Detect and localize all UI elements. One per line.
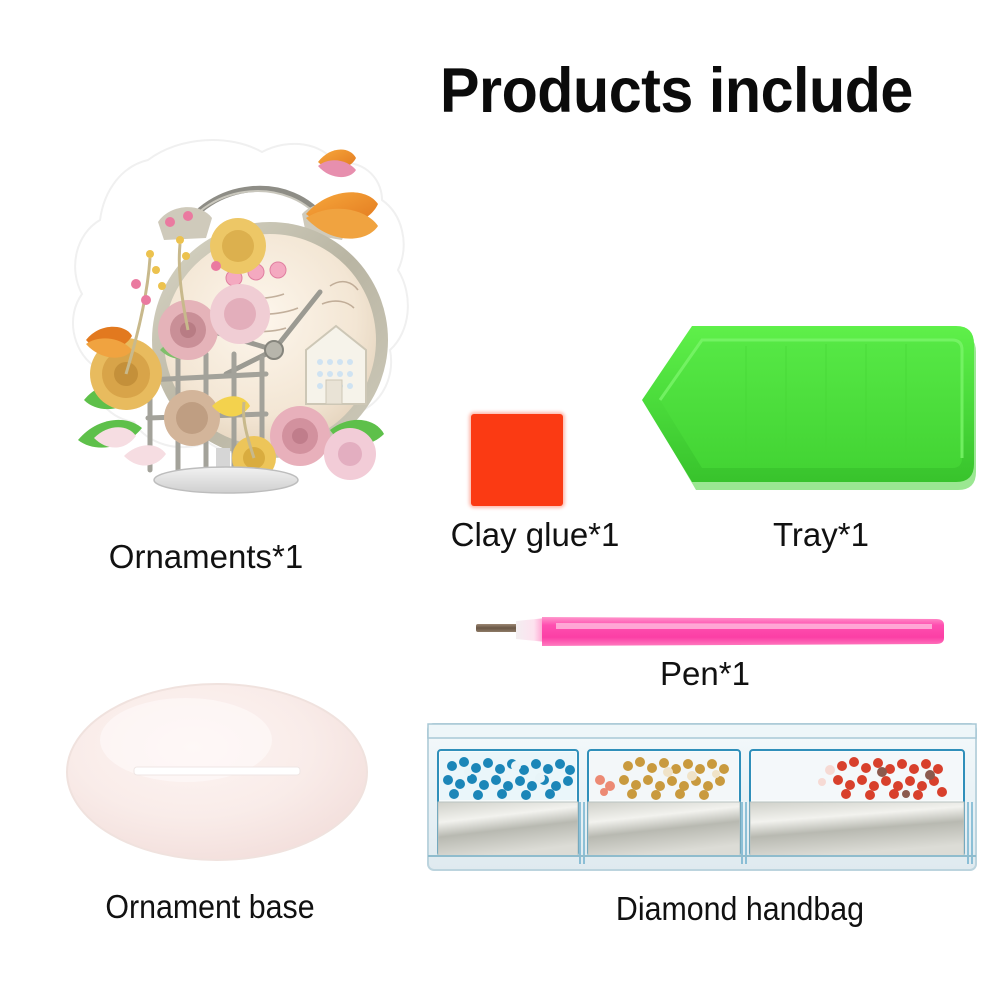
ornament-base-label: Ornament base xyxy=(90,888,329,926)
clay-glue-label: Clay glue*1 xyxy=(400,516,670,554)
ornaments-label: Ornaments*1 xyxy=(60,538,352,576)
drill-pen-icon xyxy=(470,608,950,656)
clay-glue-square-icon xyxy=(471,414,563,506)
diamond-tray-icon xyxy=(636,300,986,512)
pen-label: Pen*1 xyxy=(570,655,840,693)
tray-label: Tray*1 xyxy=(690,516,952,554)
product-contents-infographic: Products include xyxy=(0,0,1001,1001)
oval-stand-base-icon xyxy=(62,678,372,866)
page-title: Products include xyxy=(440,58,966,124)
clock-ornament-icon xyxy=(30,118,420,510)
diamond-handbag-label: Diamond handbag xyxy=(602,890,878,928)
rhinestone-pouch-icon xyxy=(424,706,980,882)
